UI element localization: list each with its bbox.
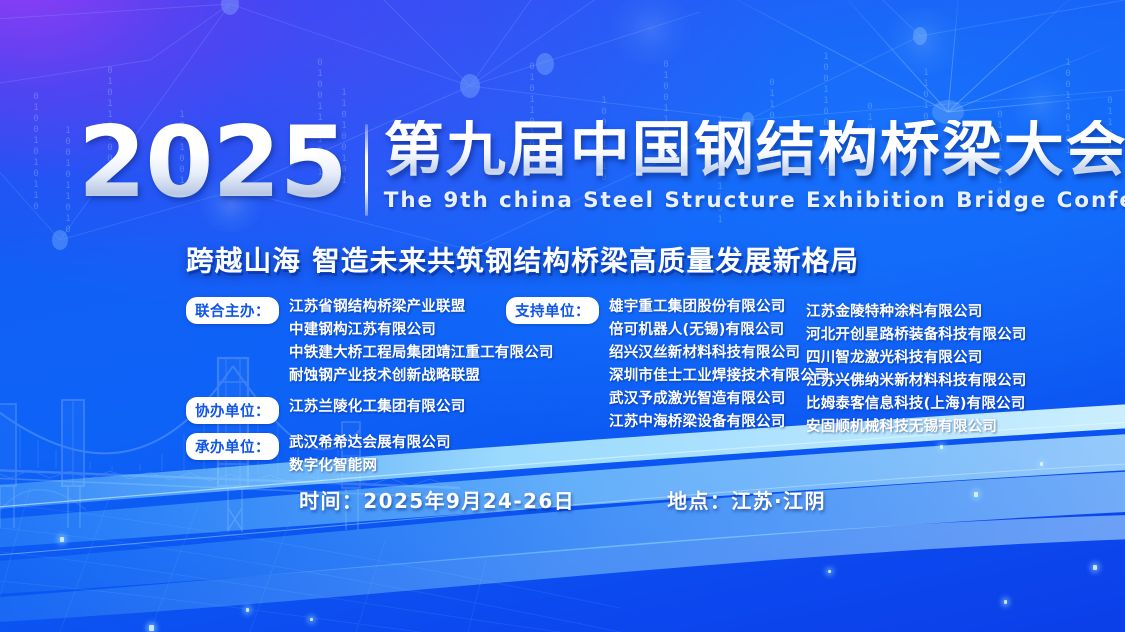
sparkle	[1040, 462, 1043, 466]
event-date: 时间：2025年9月24-26日	[299, 485, 575, 514]
sponsor-column-support-left: 支持单位： 雄宇重工集团股份有限公司 倍可机器人(无锡)有限公司 绍兴汉丝新材料…	[506, 296, 830, 434]
list-item: 倍可机器人(无锡)有限公司	[609, 319, 830, 342]
list-item: 比姆泰客信息科技(上海)有限公司	[806, 393, 1027, 416]
list-item: 江苏金陵特种涂料有限公司	[806, 301, 1027, 324]
sparkle	[1093, 565, 1097, 570]
conference-slogan: 跨越山海 智造未来共筑钢结构桥梁高质量发展新格局	[186, 238, 859, 278]
list-item: 武汉予成激光智造有限公司	[609, 388, 830, 411]
sponsor-column-support-right: 江苏金陵特种涂料有限公司 河北开创星路桥装备科技有限公司 四川智龙激光科技有限公…	[806, 296, 1027, 439]
hosting-unit-list: 武汉希希达会展有限公司 数字化智能网	[289, 432, 451, 478]
sparkle	[246, 608, 249, 612]
title-divider	[365, 124, 368, 216]
supporting-unit-list-right: 江苏金陵特种涂料有限公司 河北开创星路桥装备科技有限公司 四川智龙激光科技有限公…	[806, 301, 1027, 439]
list-item: 江苏兰陵化工集团有限公司	[289, 396, 465, 419]
list-item: 河北开创星路桥装备科技有限公司	[806, 324, 1027, 347]
sponsor-column-left: 联合主办： 江苏省钢结构桥梁产业联盟 中建钢构江苏有限公司 中铁建大桥工程局集团…	[186, 296, 554, 478]
conference-title-cn: 第九届中国钢结构桥梁大会	[384, 120, 1125, 182]
sponsor-section: 联合主办： 江苏省钢结构桥梁产业联盟 中建钢构江苏有限公司 中铁建大桥工程局集团…	[0, 296, 1125, 446]
label-supporting-units: 支持单位：	[506, 297, 599, 324]
sponsor-group-assisting-units: 协办单位： 江苏兰陵化工集团有限公司	[186, 396, 554, 424]
sparkle	[828, 570, 831, 573]
sparkle	[1004, 600, 1007, 604]
glow-dot	[606, 0, 696, 64]
conference-title-en: The 9th china Steel Structure Exhibition…	[384, 188, 1125, 213]
label-assisting-units: 协办单位：	[186, 397, 279, 424]
binary-column: 01001010110	[30, 92, 41, 213]
list-item: 武汉希希达会展有限公司	[289, 432, 451, 455]
sponsor-group-hosting-units: 承办单位： 武汉希希达会展有限公司 数字化智能网	[186, 432, 554, 478]
sponsor-group-co-organizers: 联合主办： 江苏省钢结构桥梁产业联盟 中建钢构江苏有限公司 中铁建大桥工程局集团…	[186, 296, 554, 388]
title-row: 2025 第九届中国钢结构桥梁大会 The 9th china Steel St…	[78, 118, 1125, 216]
event-location: 地点：江苏·江阴	[667, 485, 826, 514]
label-hosting-units: 承办单位：	[186, 433, 279, 460]
list-item: 江苏兴佛纳米新材料科技有限公司	[806, 370, 1027, 393]
list-item: 深圳市佳士工业焊接技术有限公司	[609, 365, 830, 388]
glow-dot	[880, 8, 966, 74]
list-item: 绍兴汉丝新材料科技有限公司	[609, 342, 830, 365]
event-meta: 时间：2025年9月24-26日 地点：江苏·江阴	[0, 485, 1125, 514]
sparkle	[310, 618, 313, 621]
sparkle	[149, 625, 154, 631]
year-number: 2025	[78, 118, 357, 208]
supporting-unit-list-left: 雄宇重工集团股份有限公司 倍可机器人(无锡)有限公司 绍兴汉丝新材料科技有限公司…	[609, 296, 830, 434]
sparkle	[60, 537, 64, 542]
label-co-organizers: 联合主办：	[186, 297, 279, 324]
list-item: 数字化智能网	[289, 455, 451, 478]
sponsor-group-supporting-units: 支持单位： 雄宇重工集团股份有限公司 倍可机器人(无锡)有限公司 绍兴汉丝新材料…	[506, 296, 830, 434]
list-item: 四川智龙激光科技有限公司	[806, 347, 1027, 370]
list-item: 雄宇重工集团股份有限公司	[609, 296, 830, 319]
binary-column: 1001011010	[62, 126, 73, 236]
assisting-unit-list: 江苏兰陵化工集团有限公司	[289, 396, 465, 419]
conference-poster: 01001010110 1001011010 010110100110 1011…	[0, 0, 1125, 632]
list-item: 江苏中海桥梁设备有限公司	[609, 411, 830, 434]
title-stack: 第九届中国钢结构桥梁大会 The 9th china Steel Structu…	[384, 118, 1125, 213]
list-item: 安固顺机械科技无锡有限公司	[806, 416, 1027, 439]
